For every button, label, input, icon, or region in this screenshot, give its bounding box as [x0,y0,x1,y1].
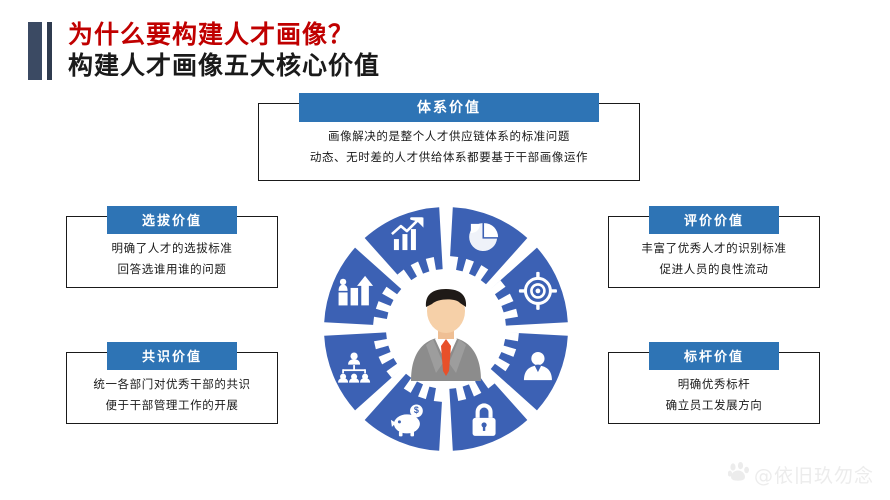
value-card-evaluation-header: 评价价值 [649,206,779,234]
baidu-paw-icon [728,462,750,487]
value-card-selection-line-1: 明确了人才的选拔标准 [67,238,277,259]
value-card-system-line-1: 画像解决的是整个人才供应链体系的标准问题 [259,126,639,147]
gear-wheel-diagram: $ [322,205,570,453]
page-title-block: 为什么要构建人才画像？ 构建人才画像五大核心价值 [28,22,380,81]
title-text-group: 为什么要构建人才画像？ 构建人才画像五大核心价值 [68,22,380,81]
value-card-benchmark-line-2: 确立员工发展方向 [609,395,819,416]
value-card-evaluation-body: 丰富了优秀人才的识别标准 促进人员的良性流动 [609,238,819,281]
watermark: @依旧玖勿念 [728,461,874,488]
page-title: 为什么要构建人才画像？ [68,22,380,48]
value-card-benchmark-header: 标杆价值 [649,342,779,370]
value-card-consensus-body: 统一各部门对优秀干部的共识 便于干部管理工作的开展 [67,374,277,417]
value-card-selection-header: 选拔价值 [107,206,237,234]
value-card-consensus: 共识价值 统一各部门对优秀干部的共识 便于干部管理工作的开展 [66,352,278,424]
value-card-consensus-line-2: 便于干部管理工作的开展 [67,395,277,416]
svg-text:$: $ [414,405,419,415]
value-card-selection-line-2: 回答选谁用谁的问题 [67,259,277,280]
page-subtitle: 构建人才画像五大核心价值 [68,52,380,81]
businessman-avatar [411,289,481,381]
watermark-text: @依旧玖勿念 [754,461,874,488]
value-card-system-header: 体系价值 [299,93,599,122]
value-card-benchmark-line-1: 明确优秀标杆 [609,374,819,395]
value-card-evaluation-line-2: 促进人员的良性流动 [609,259,819,280]
value-card-evaluation: 评价价值 丰富了优秀人才的识别标准 促进人员的良性流动 [608,216,820,288]
value-card-benchmark-body: 明确优秀标杆 确立员工发展方向 [609,374,819,417]
value-card-system: 体系价值 画像解决的是整个人才供应链体系的标准问题 动态、无时差的人才供给体系都… [258,103,640,181]
title-accent-bar-thick [28,22,42,80]
value-card-benchmark: 标杆价值 明确优秀标杆 确立员工发展方向 [608,352,820,424]
value-card-consensus-line-1: 统一各部门对优秀干部的共识 [67,374,277,395]
title-accent-bar-thin [47,22,52,80]
value-card-system-line-2: 动态、无时差的人才供给体系都要基于干部画像运作 [259,147,639,168]
value-card-system-body: 画像解决的是整个人才供应链体系的标准问题 动态、无时差的人才供给体系都要基于干部… [259,126,639,169]
value-card-consensus-header: 共识价值 [107,342,237,370]
value-card-evaluation-line-1: 丰富了优秀人才的识别标准 [609,238,819,259]
value-card-selection-body: 明确了人才的选拔标准 回答选谁用谁的问题 [67,238,277,281]
value-card-selection: 选拔价值 明确了人才的选拔标准 回答选谁用谁的问题 [66,216,278,288]
